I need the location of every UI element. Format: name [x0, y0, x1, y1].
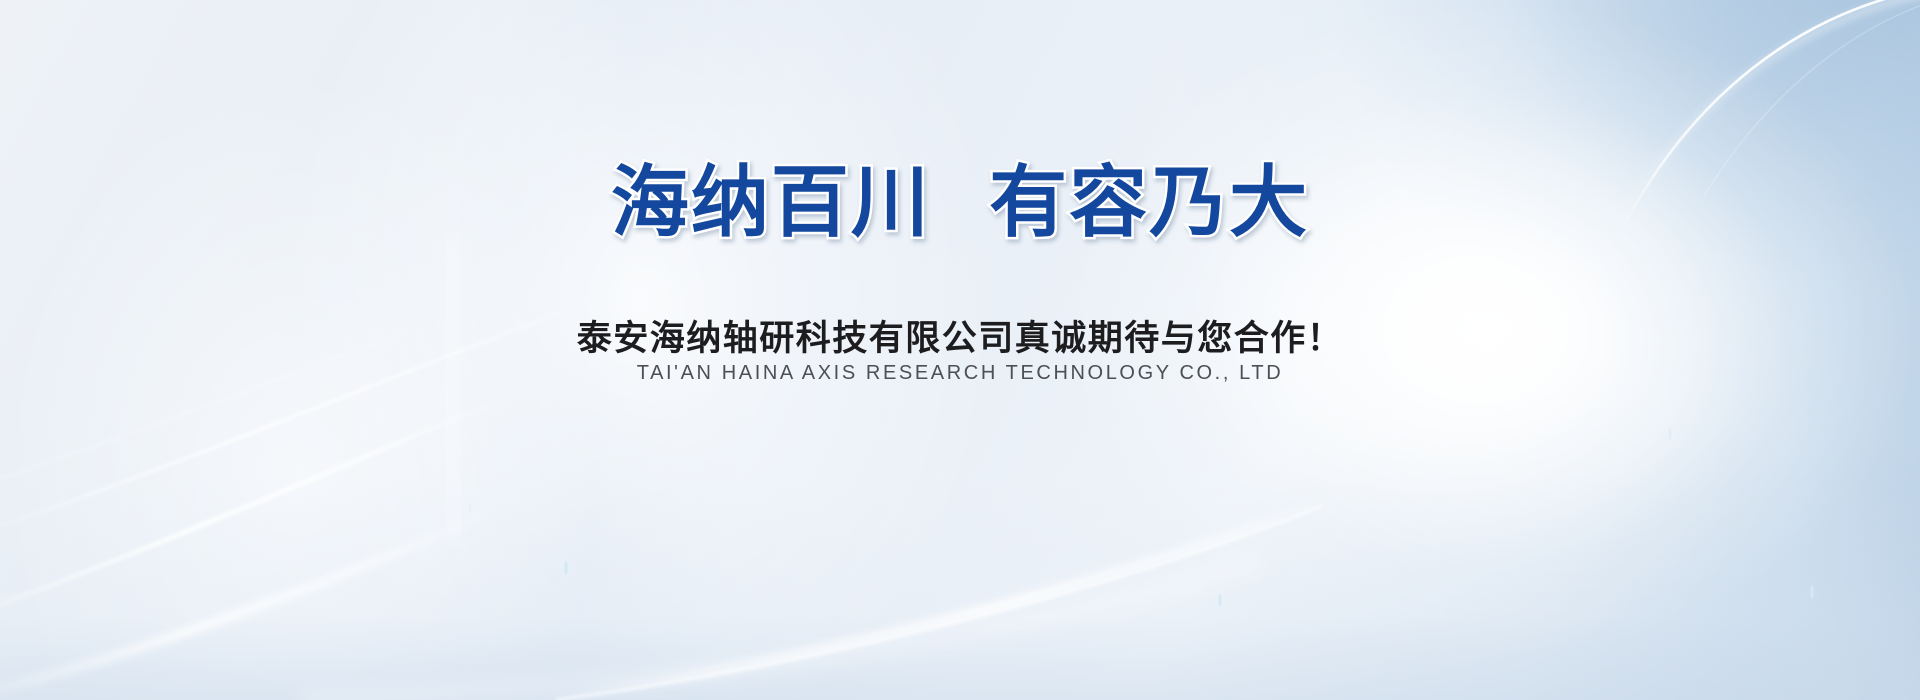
banner-content: 海纳百川 有容乃大 泰安海纳轴研科技有限公司真诚期待与您合作！ TAI'AN H… [0, 0, 1920, 700]
banner-headline: 海纳百川 有容乃大 [0, 162, 1920, 245]
banner-subtitle-english: TAI'AN HAINA AXIS RESEARCH TECHNOLOGY CO… [0, 362, 1920, 385]
hero-banner: 海纳百川 有容乃大 泰安海纳轴研科技有限公司真诚期待与您合作！ TAI'AN H… [0, 0, 1920, 700]
banner-subtitle: 泰安海纳轴研科技有限公司真诚期待与您合作！ [0, 310, 1920, 361]
